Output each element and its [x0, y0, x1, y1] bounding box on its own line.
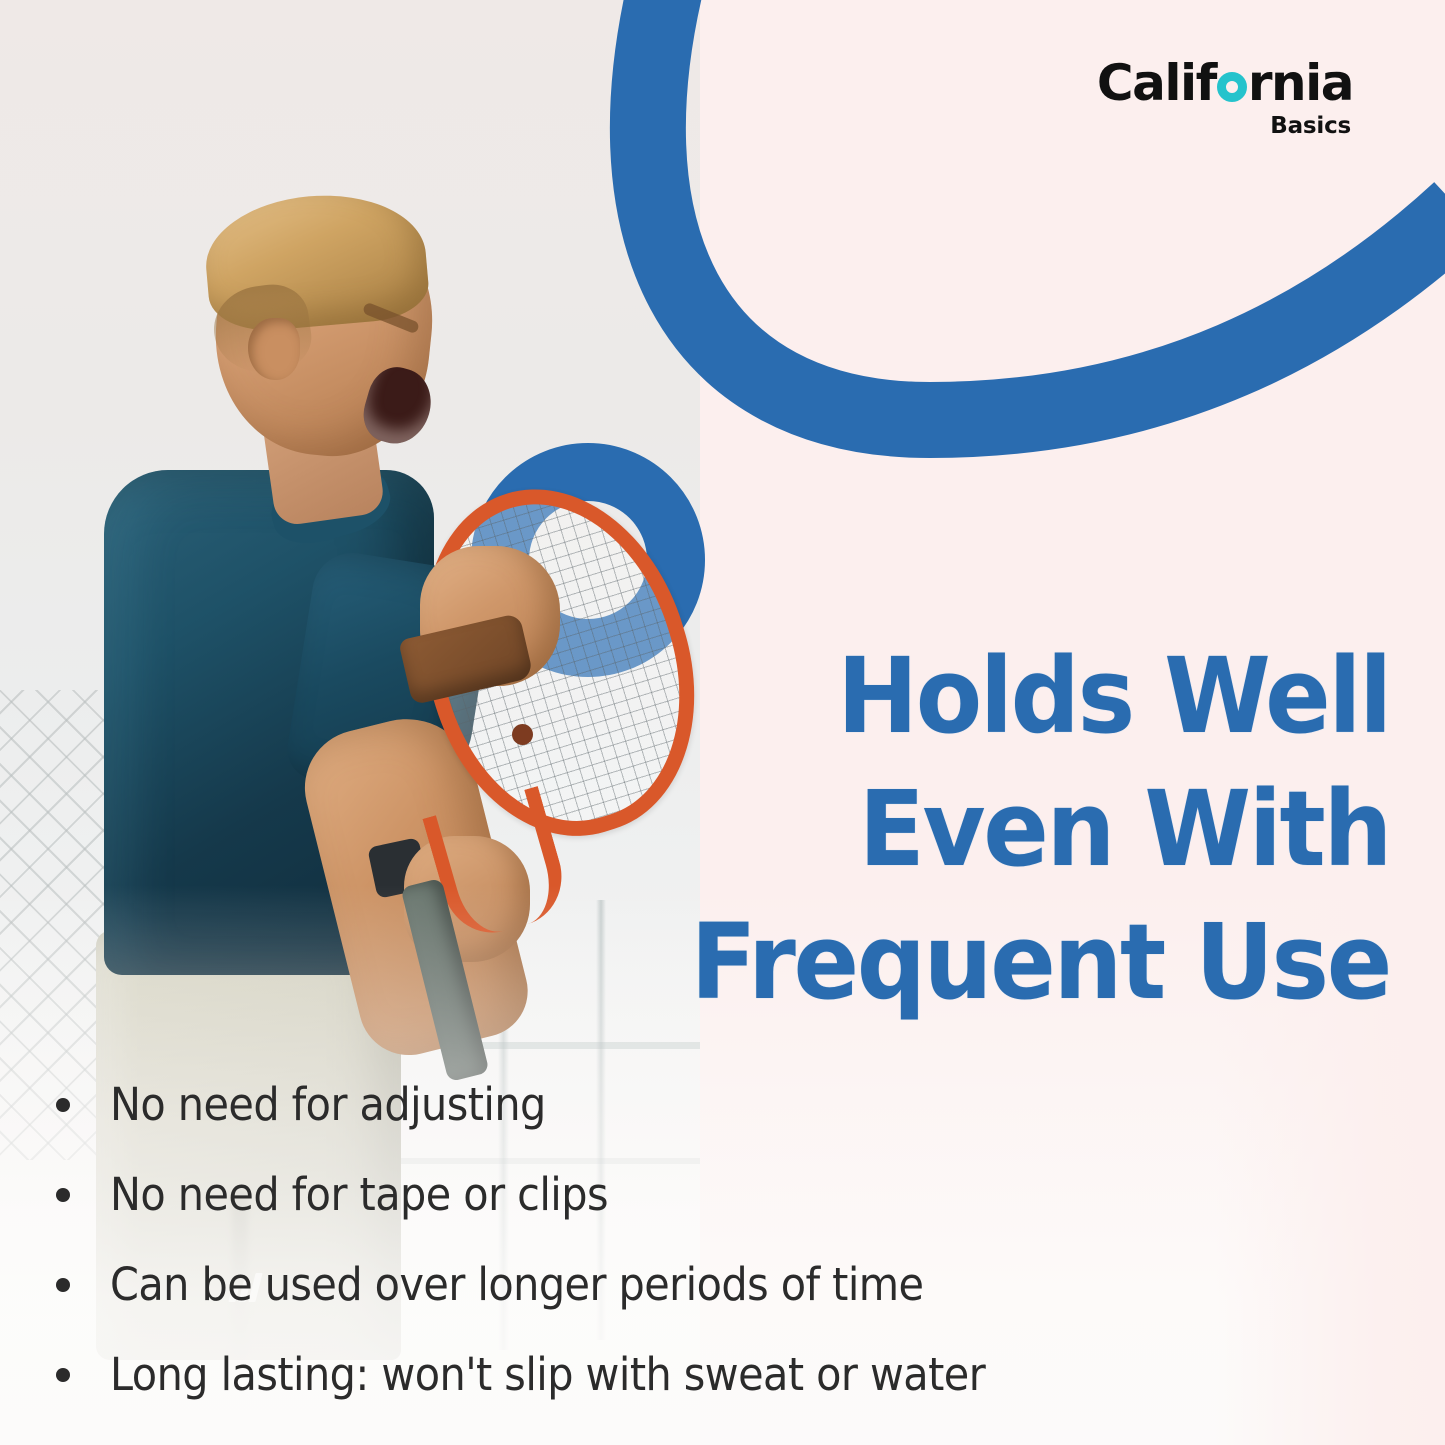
list-item: Can be used over longer periods of time — [56, 1262, 1386, 1352]
benefits-list: No need for adjusting No need for tape o… — [56, 1082, 1386, 1442]
headline-line-1: Holds Well — [627, 630, 1390, 763]
brand-name-part2: rnia — [1248, 54, 1353, 112]
benefit-text: No need for tape or clips — [110, 1172, 608, 1217]
headline: Holds Well Even With Frequent Use — [570, 630, 1390, 1029]
brand-tagline: Basics — [1097, 115, 1351, 138]
tennis-ball — [512, 724, 533, 745]
headline-line-2: Even With — [627, 763, 1390, 896]
bullet-dot-icon — [56, 1098, 70, 1112]
list-item: No need for adjusting — [56, 1082, 1386, 1172]
bullet-dot-icon — [56, 1278, 70, 1292]
bullet-dot-icon — [56, 1188, 70, 1202]
product-infographic: Califrnia Basics Holds Well Even With Fr… — [0, 0, 1445, 1445]
brand-logo: Califrnia Basics — [1097, 58, 1353, 138]
list-item: No need for tape or clips — [56, 1172, 1386, 1262]
list-item: Long lasting: won't slip with sweat or w… — [56, 1352, 1386, 1442]
benefit-text: Long lasting: won't slip with sweat or w… — [110, 1352, 985, 1397]
brand-name-part1: Calif — [1097, 54, 1216, 112]
benefit-text: No need for adjusting — [110, 1082, 546, 1127]
headline-line-3: Frequent Use — [627, 896, 1390, 1029]
teal-ring-o-icon — [1217, 72, 1247, 102]
brand-name: Califrnia — [1097, 58, 1353, 108]
bullet-dot-icon — [56, 1368, 70, 1382]
benefit-text: Can be used over longer periods of time — [110, 1262, 923, 1307]
